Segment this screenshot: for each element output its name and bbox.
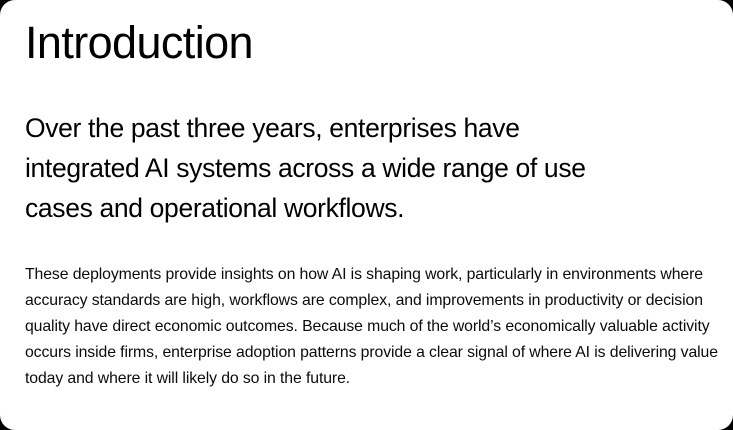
section-body-paragraph: These deployments provide insights on ho… <box>25 262 725 392</box>
section-lede: Over the past three years, enterprises h… <box>25 108 635 228</box>
content-card: Introduction Over the past three years, … <box>0 0 733 430</box>
page-title: Introduction <box>25 20 253 65</box>
